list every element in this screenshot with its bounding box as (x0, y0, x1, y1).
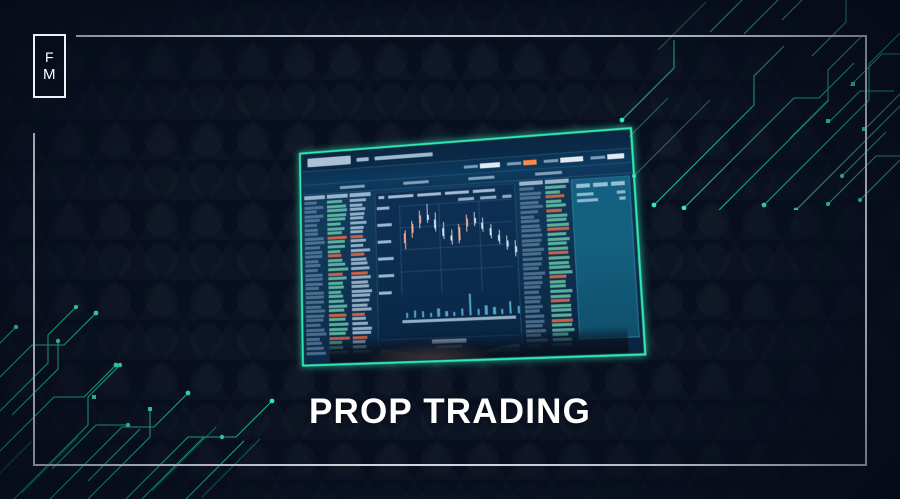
x-axis-tick (487, 316, 497, 320)
order-book-row (306, 300, 324, 304)
order-book-row (521, 219, 540, 223)
order-book-row (328, 254, 342, 258)
order-book-row (525, 310, 539, 314)
order-book-right (519, 177, 578, 351)
order-book-row (329, 290, 341, 294)
trade-quick-pills (576, 181, 625, 188)
order-book-row (328, 245, 345, 249)
order-book-row (327, 231, 342, 235)
volume-bar (493, 307, 496, 315)
order-book-row (329, 313, 346, 317)
order-book-row (526, 324, 543, 328)
poster-canvas: F M PROP TRADING (0, 0, 900, 499)
volume-bar (406, 313, 409, 318)
order-book-row (328, 249, 340, 253)
volume-bar (461, 309, 464, 316)
volume-bar (445, 311, 448, 316)
trading-dashboard-screenshot (296, 140, 632, 358)
order-book-row (329, 300, 345, 304)
dashboard-menu-item (374, 152, 432, 160)
order-book-column (304, 194, 328, 359)
volume-bar (437, 308, 440, 316)
order-book-row (307, 347, 325, 351)
order-book-row (329, 295, 344, 299)
order-book-row (306, 291, 324, 295)
ticker-item (590, 153, 624, 161)
order-book-row (329, 304, 347, 308)
order-book-row (305, 250, 322, 254)
order-book-row (524, 281, 542, 285)
x-axis-tick (440, 318, 450, 321)
volume-bar (477, 309, 480, 315)
order-book-row (329, 322, 348, 326)
order-book-row (351, 248, 371, 252)
y-axis-tick (378, 274, 393, 278)
order-book-row (306, 296, 324, 300)
order-book-row (551, 299, 570, 303)
x-axis-tick (497, 316, 507, 320)
order-book-row (546, 213, 567, 217)
order-book-row (521, 224, 539, 228)
order-book-row (525, 305, 543, 309)
order-book-row (520, 201, 539, 205)
order-book-row (352, 285, 370, 289)
order-book-header (350, 192, 371, 197)
volume-bar (501, 309, 504, 314)
order-book-row (305, 214, 324, 218)
order-book-row (328, 240, 346, 244)
volume-bar (468, 294, 471, 316)
volume-series (402, 291, 516, 319)
order-book-row (522, 243, 539, 247)
order-book-row (306, 310, 325, 314)
order-book-row (305, 228, 318, 232)
volume-bar (509, 301, 512, 313)
order-book-row (351, 244, 364, 248)
order-book-header (545, 178, 569, 184)
order-book-row (328, 276, 346, 280)
logo-letter-m: M (43, 67, 56, 82)
y-axis-tick (379, 291, 392, 295)
order-book-row (307, 351, 326, 355)
page-title: PROP TRADING (0, 392, 900, 432)
order-book-row (306, 324, 320, 328)
order-book-row (328, 286, 343, 290)
fm-logo: F M (33, 34, 66, 98)
order-book-row (549, 256, 570, 260)
order-book-row (546, 209, 562, 213)
volume-bar (485, 305, 488, 315)
order-book-row (350, 225, 363, 229)
frame-top-line (76, 35, 867, 37)
order-book-row (327, 213, 346, 217)
order-book-row (524, 286, 541, 290)
order-book-row (350, 198, 367, 202)
order-book-row (327, 217, 345, 221)
order-book-row (352, 294, 370, 298)
order-book-header (327, 194, 348, 199)
y-axis-tick (378, 240, 392, 244)
order-book-row (329, 332, 346, 336)
order-book-row (520, 205, 542, 209)
order-book-row (352, 289, 373, 293)
frame-bottom-line (33, 464, 867, 466)
order-book-row (329, 318, 345, 322)
order-book-row (328, 235, 347, 239)
order-book-row (525, 300, 541, 304)
order-book-row (305, 255, 322, 259)
y-axis-tick (377, 206, 390, 210)
order-book-row (329, 327, 348, 331)
x-axis-tick (477, 317, 487, 321)
logo-letter-f: F (45, 50, 54, 64)
order-book-row (523, 271, 545, 275)
order-book-row (306, 314, 324, 318)
order-book-row (306, 282, 323, 286)
order-book-row (306, 328, 324, 332)
order-book-row (305, 224, 317, 228)
order-book-row (549, 265, 570, 269)
order-book-row (328, 281, 342, 285)
order-book-row (327, 227, 344, 231)
trade-entry-panel (571, 175, 640, 339)
volume-bar (517, 306, 520, 313)
order-book-row (327, 204, 346, 208)
volume-bar (430, 313, 433, 317)
order-book-row (305, 246, 320, 250)
order-book-header (304, 195, 325, 200)
x-axis-tick (468, 317, 478, 320)
order-book-row (306, 305, 321, 309)
order-book-row (352, 326, 372, 330)
order-book-row (524, 295, 541, 299)
order-book-row (547, 218, 567, 222)
order-book-row (524, 291, 539, 295)
order-book-row (306, 319, 323, 323)
x-axis-tick (506, 316, 516, 320)
order-book-row (522, 233, 543, 237)
order-book-row (305, 237, 324, 241)
dashboard-menu-item (356, 157, 368, 162)
screen-content (302, 130, 643, 363)
order-book-row (351, 280, 367, 284)
order-book-row (329, 309, 345, 313)
order-book-header (519, 180, 543, 186)
y-axis-tick (377, 223, 392, 227)
x-axis-tick (402, 320, 411, 323)
x-axis-tick (449, 318, 459, 321)
order-book-row (306, 287, 319, 291)
chart-y-axis (377, 206, 401, 295)
volume-bar (453, 312, 456, 316)
order-book-row (327, 222, 340, 226)
order-book-row (305, 241, 325, 245)
order-book-row (551, 308, 571, 312)
order-book-row (520, 210, 537, 214)
order-book-row (306, 342, 322, 346)
order-book-row (524, 276, 542, 280)
order-book-row (521, 215, 535, 219)
order-book-row (305, 273, 323, 277)
x-axis-tick (430, 319, 439, 322)
x-axis-tick (458, 317, 468, 320)
order-book-row (552, 318, 573, 322)
order-book-row (350, 207, 365, 211)
